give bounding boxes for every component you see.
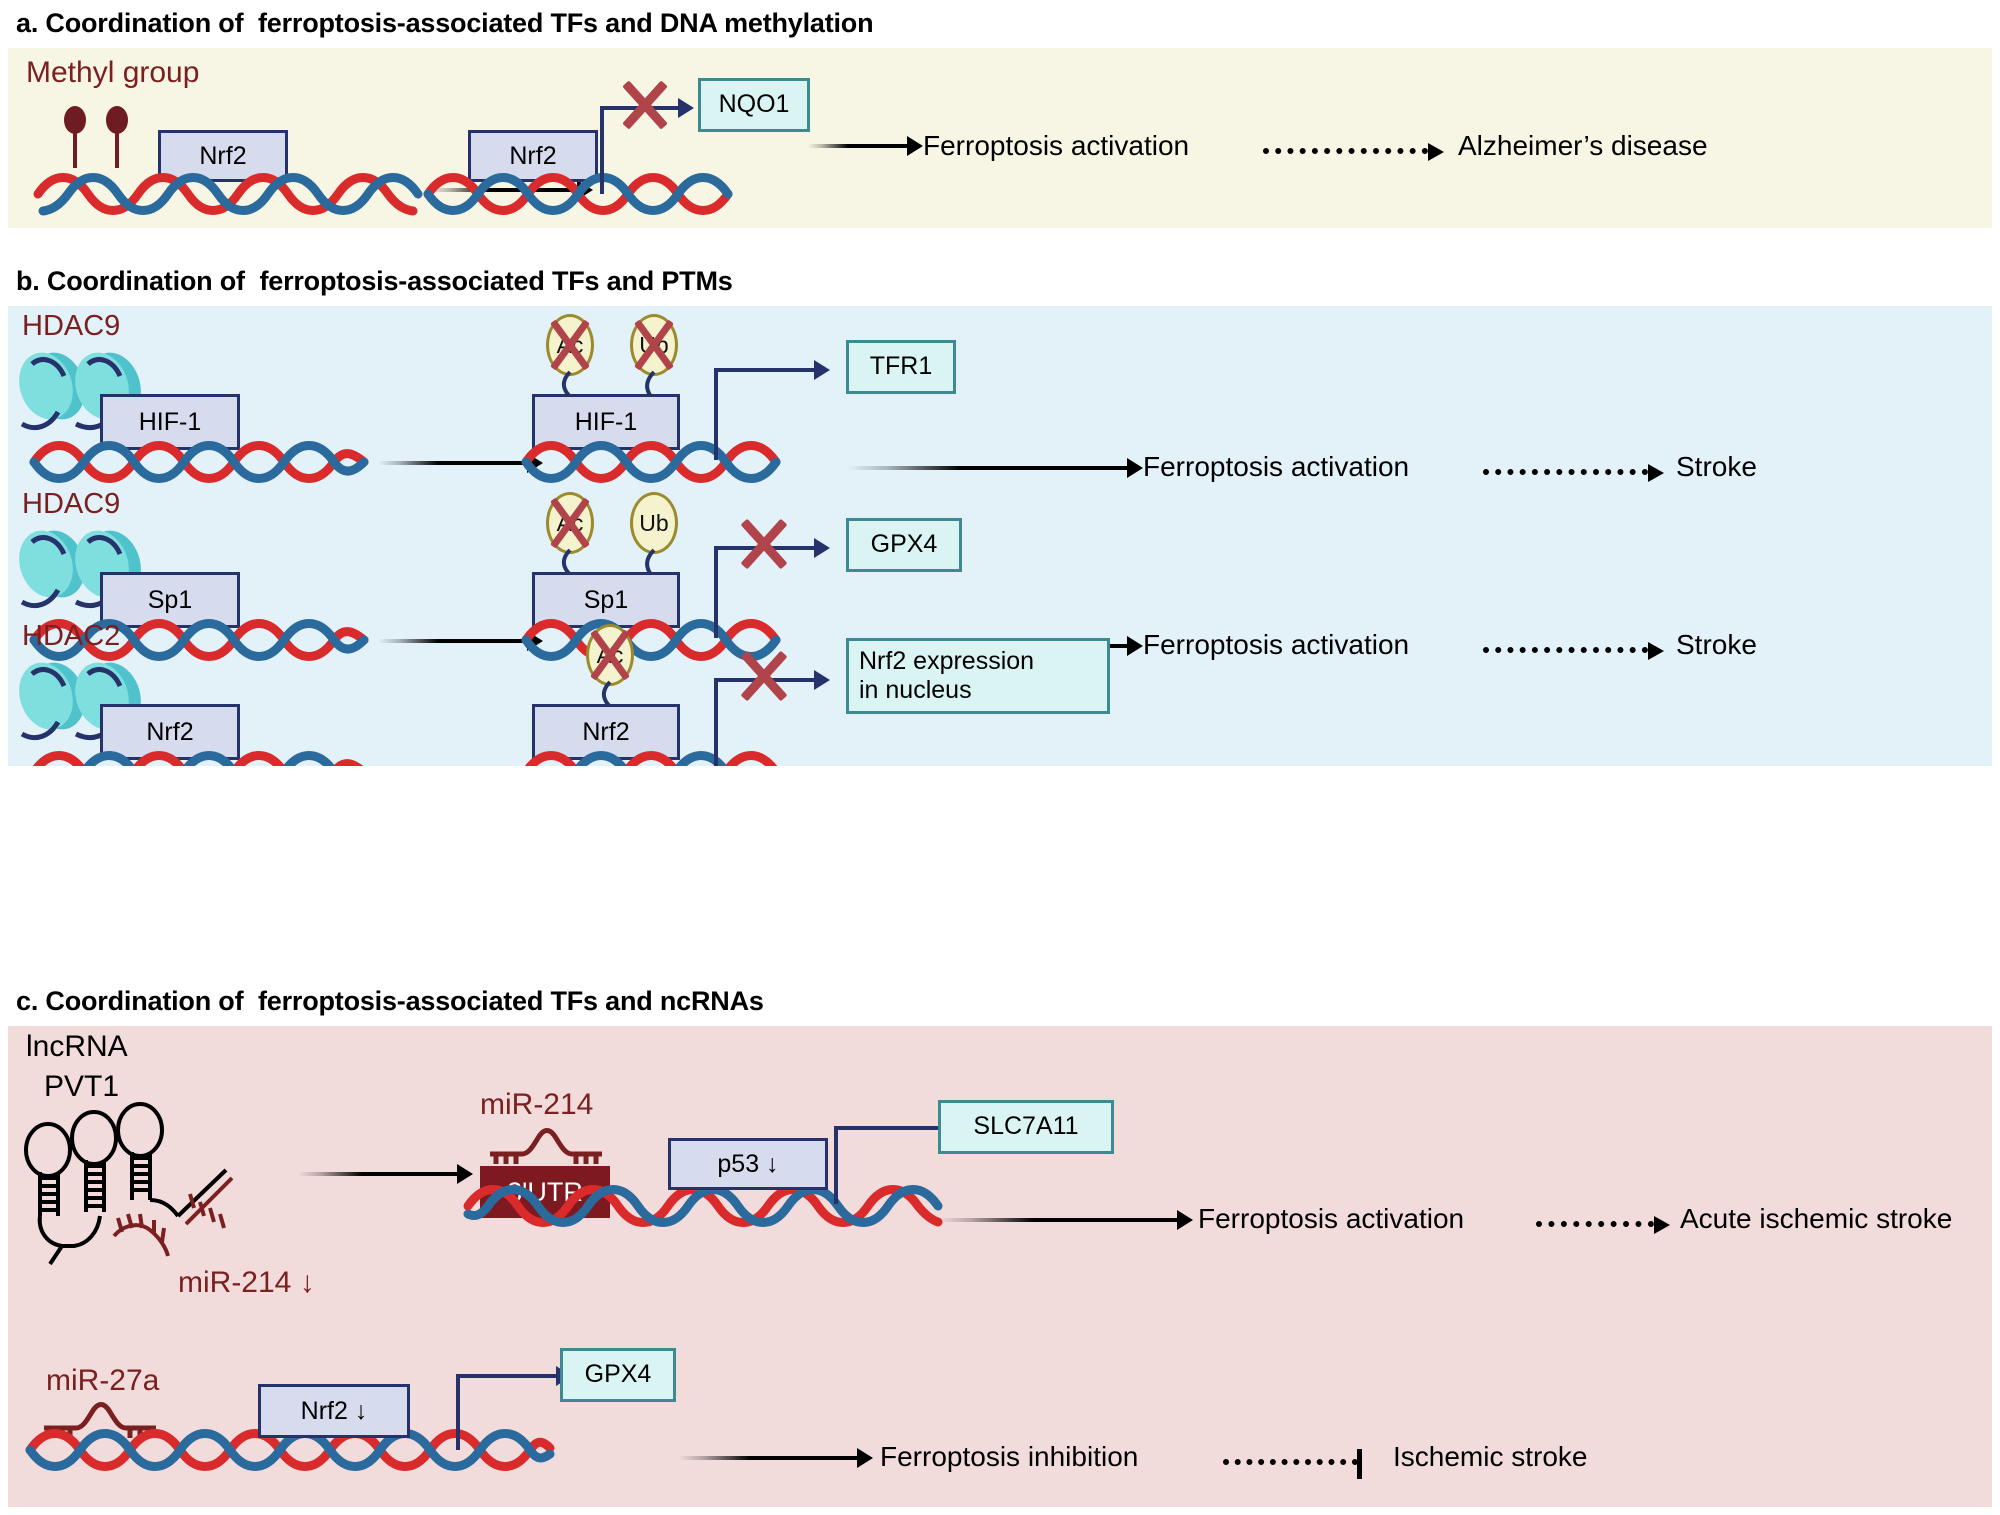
ptm-bubble-ub-row1: Ub <box>630 314 678 376</box>
tf-box-label: HIF-1 <box>139 408 202 437</box>
panel-b-ptms: b. Coordination of ferroptosis-associate… <box>8 258 1992 768</box>
lncrna-label-line2: PVT1 <box>44 1070 119 1104</box>
panel-c-title: c. Coordination of ferroptosis-associate… <box>16 986 764 1017</box>
mirna-label-row2: miR-27a <box>46 1364 159 1398</box>
lncrna-stemloop-icon <box>18 1104 298 1264</box>
outcome-label-b3: Ferroptosis activation <box>1143 761 1409 766</box>
dashed-arrow-icon <box>1263 148 1428 154</box>
tf-box-label: Nrf2 <box>509 142 556 171</box>
panel-a-dna-methylation: a. Coordination of ferroptosis-associate… <box>8 0 1992 240</box>
tf-box-p53[interactable]: p53 ↓ <box>668 1138 828 1190</box>
dna-double-helix-icon <box>34 440 364 484</box>
hdac-label-row3: HDAC2 <box>22 620 120 653</box>
panel-c-body: lncRNA PVT1 <box>8 1026 1992 1507</box>
arrow-right-icon <box>678 1456 858 1460</box>
mirna-sponge-label: miR-214 ↓ <box>178 1266 315 1300</box>
tf-box-label: p53 ↓ <box>717 1150 778 1179</box>
lncrna-label-line1: lncRNA <box>26 1030 128 1064</box>
methyl-group-label: Methyl group <box>26 56 199 90</box>
ptm-bubble-ac-row2: Ac <box>546 492 594 554</box>
target-box-label: NQO1 <box>719 90 790 120</box>
disease-label-b3: Hypoxic-ischemic brain injury <box>1610 761 1973 766</box>
mirna-hairpin-icon <box>488 1128 604 1164</box>
outcome-label-b1: Ferroptosis activation <box>1143 451 1409 483</box>
outcome-label-a: Ferroptosis activation <box>923 130 1189 162</box>
target-box-label: GPX4 <box>585 1360 652 1390</box>
tf-box-label: Nrf2 <box>582 718 629 747</box>
panel-b-title: b. Coordination of ferroptosis-associate… <box>16 266 733 297</box>
dashed-arrow-icon <box>1483 647 1648 653</box>
arrow-right-icon <box>808 144 908 148</box>
arrow-right-icon <box>378 639 528 643</box>
ptm-label: Ub <box>630 492 678 554</box>
target-box-label: Nrf2 expression in nucleus <box>859 647 1034 706</box>
panel-b-body: HDAC9 HIF-1 Ac Ub <box>8 306 1992 766</box>
target-box-nrf2-nucleus[interactable]: Nrf2 expression in nucleus <box>846 638 1110 714</box>
dna-double-helix-icon <box>34 750 364 766</box>
tf-box-label: HIF-1 <box>575 408 638 437</box>
mirna-label-row1: miR-214 <box>480 1088 593 1122</box>
ptm-bubble-ub-row2: Ub <box>630 492 678 554</box>
dna-double-helix-icon <box>38 172 418 216</box>
target-box-tfr1[interactable]: TFR1 <box>846 340 956 394</box>
outcome-label-b2: Ferroptosis activation <box>1143 629 1409 661</box>
red-x-inhibition-icon <box>734 514 794 574</box>
tf-box-label: Nrf2 <box>146 718 193 747</box>
arrow-right-icon <box>848 466 1128 470</box>
arrow-right-icon <box>378 461 528 465</box>
target-box-label: SLC7A11 <box>973 1112 1078 1142</box>
panel-a-body: Methyl group Nrf2 Nrf2 <box>8 48 1992 228</box>
disease-label-a: Alzheimer’s disease <box>1458 130 1708 162</box>
tf-box-nrf2-c[interactable]: Nrf2 ↓ <box>258 1384 410 1438</box>
target-box-gpx4[interactable]: GPX4 <box>846 518 962 572</box>
tf-box-label: Nrf2 <box>199 142 246 171</box>
target-box-label: GPX4 <box>871 530 938 560</box>
inhibition-bar-icon <box>1223 1459 1358 1465</box>
arrow-right-icon <box>298 1172 458 1176</box>
arrow-right-icon <box>938 1218 1178 1222</box>
connector-hif1-to-tfr1 <box>714 368 844 460</box>
target-box-slc7a11[interactable]: SLC7A11 <box>938 1100 1114 1154</box>
dashed-arrow-icon <box>1483 469 1648 475</box>
red-x-inhibition-icon <box>616 76 674 134</box>
hdac-label-row1: HDAC9 <box>22 310 120 343</box>
panel-a-title: a. Coordination of ferroptosis-associate… <box>16 8 873 39</box>
outcome-label-c2: Ferroptosis inhibition <box>880 1441 1138 1473</box>
hdac-label-row2: HDAC9 <box>22 488 120 521</box>
target-box-label: TFR1 <box>870 352 933 382</box>
ptm-bubble-ac-row3: Ac <box>586 624 634 686</box>
outcome-label-c1: Ferroptosis activation <box>1198 1203 1464 1235</box>
target-box-nqo1[interactable]: NQO1 <box>698 78 810 132</box>
disease-label-b1: Stroke <box>1676 451 1757 483</box>
ptm-bubble-ac-row1: Ac <box>546 314 594 376</box>
red-x-inhibition-icon <box>734 646 794 706</box>
tf-box-label: Sp1 <box>584 586 628 615</box>
disease-label-c2: Ischemic stroke <box>1393 1441 1588 1473</box>
dashed-arrow-icon <box>1536 1221 1654 1227</box>
tf-box-label: Sp1 <box>148 586 192 615</box>
panel-c-ncrnas: c. Coordination of ferroptosis-associate… <box>8 978 1992 1515</box>
target-box-gpx4-c[interactable]: GPX4 <box>560 1348 676 1402</box>
tf-box-label: Nrf2 ↓ <box>301 1397 368 1426</box>
disease-label-b2: Stroke <box>1676 629 1757 661</box>
disease-label-c1: Acute ischemic stroke <box>1680 1203 1952 1235</box>
